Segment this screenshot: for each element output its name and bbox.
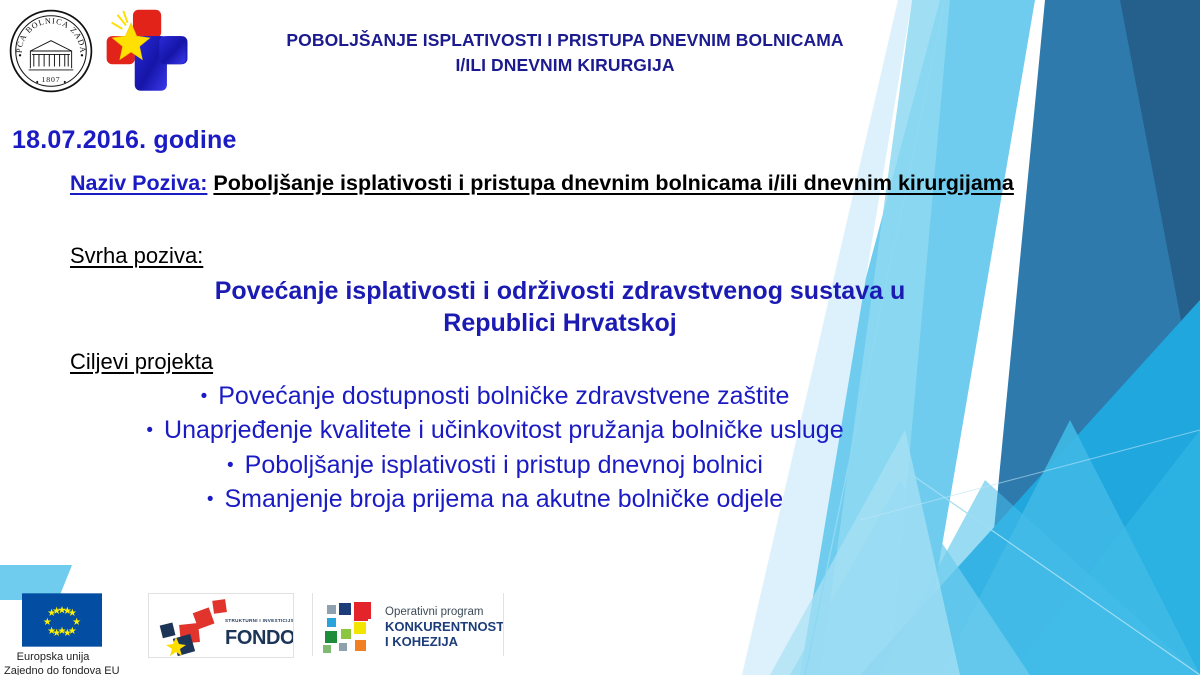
opkk-logo-graphic: Operativni program KONKURENTNOST I KOHEZ… [313,593,503,656]
list-item-label: Unaprjeđenje kvalitete i učinkovitost pr… [164,416,844,444]
opkk-line1: Operativni program [385,606,483,618]
list-item-label: Poboljšanje isplativosti i pristup dnevn… [245,451,763,479]
svg-text:STRUKTURNI I INVESTICIJSKI: STRUKTURNI I INVESTICIJSKI [225,618,293,623]
eu-caption-line1: Europska unija [4,650,102,664]
naziv-poziva-label: Naziv Poziva: [70,171,207,195]
svrha-poziva-value: Povećanje isplativosti i održivosti zdra… [0,275,1070,339]
svg-text:FONDOVI: FONDOVI [225,627,293,649]
eu-logo-caption: Europska unija Zajedno do fondova EU [4,650,102,675]
list-item-label: Povećanje dostupnosti bolničke zdravstve… [218,382,789,410]
svrha-poziva-label-text: Svrha poziva: [70,243,203,268]
bullet-marker-icon: • [146,418,153,444]
list-item: •Smanjenje broja prijema na akutne bolni… [40,482,950,517]
opkk-line3: I KOHEZIJA [385,634,459,649]
list-item: •Poboljšanje isplativosti i pristup dnev… [40,448,950,483]
date-text: 18.07.2016. godine [12,126,1070,155]
medical-cross-star-icon [100,6,196,100]
naziv-poziva-value: Poboljšanje isplativosti i pristupa dnev… [213,171,1013,195]
page-title-line1: POBOLJŠANJE ISPLATIVOSTI I PRISTUPA DNEV… [215,28,915,53]
opkk-logo: Operativni program KONKURENTNOST I KOHEZ… [312,593,504,656]
list-item: •Unaprjeđenje kvalitete i učinkovitost p… [40,413,950,448]
bullet-marker-icon: • [207,487,214,513]
svrha-poziva-label: Svrha poziva: [70,243,1070,269]
page-title-line2: I/ILI DNEVNIM KIRURGIJA [215,53,915,78]
slide-header: OPĆA BOLNICA ZADAR 1807 [0,0,1200,110]
eu-caption-line2: Zajedno do fondova EU [4,664,102,675]
page-title: POBOLJŠANJE ISPLATIVOSTI I PRISTUPA DNEV… [215,28,915,78]
eu-flag-icon [22,593,102,647]
eu-logo: Europska unija Zajedno do fondova EU [22,593,102,675]
opkk-line2: KONKURENTNOST [385,619,503,634]
ciljevi-bullet-list: •Povećanje dostupnosti bolničke zdravstv… [0,379,1070,517]
list-item: •Povećanje dostupnosti bolničke zdravstv… [40,379,950,414]
svg-text:1807: 1807 [42,75,61,84]
naziv-poziva-block: Naziv Poziva: Poboljšanje isplativosti i… [70,168,1020,199]
bullet-marker-icon: • [227,453,234,479]
slide-footer: Europska unija Zajedno do fondova EU STR… [0,565,1200,675]
fondovi-logo-graphic: STRUKTURNI I INVESTICIJSKI FONDOVI [149,594,293,657]
bullet-marker-icon: • [201,384,208,410]
ciljevi-projekta-label-text: Ciljevi projekta [70,349,213,374]
presentation-slide: OPĆA BOLNICA ZADAR 1807 [0,0,1200,675]
fondovi-logo: STRUKTURNI I INVESTICIJSKI FONDOVI [148,593,294,658]
slide-content: 18.07.2016. godine Naziv Poziva: Poboljš… [0,112,1070,517]
ciljevi-projekta-label: Ciljevi projekta [70,349,1070,375]
hospital-seal-icon: OPĆA BOLNICA ZADAR 1807 [8,8,94,94]
list-item-label: Smanjenje broja prijema na akutne bolnič… [224,485,783,513]
